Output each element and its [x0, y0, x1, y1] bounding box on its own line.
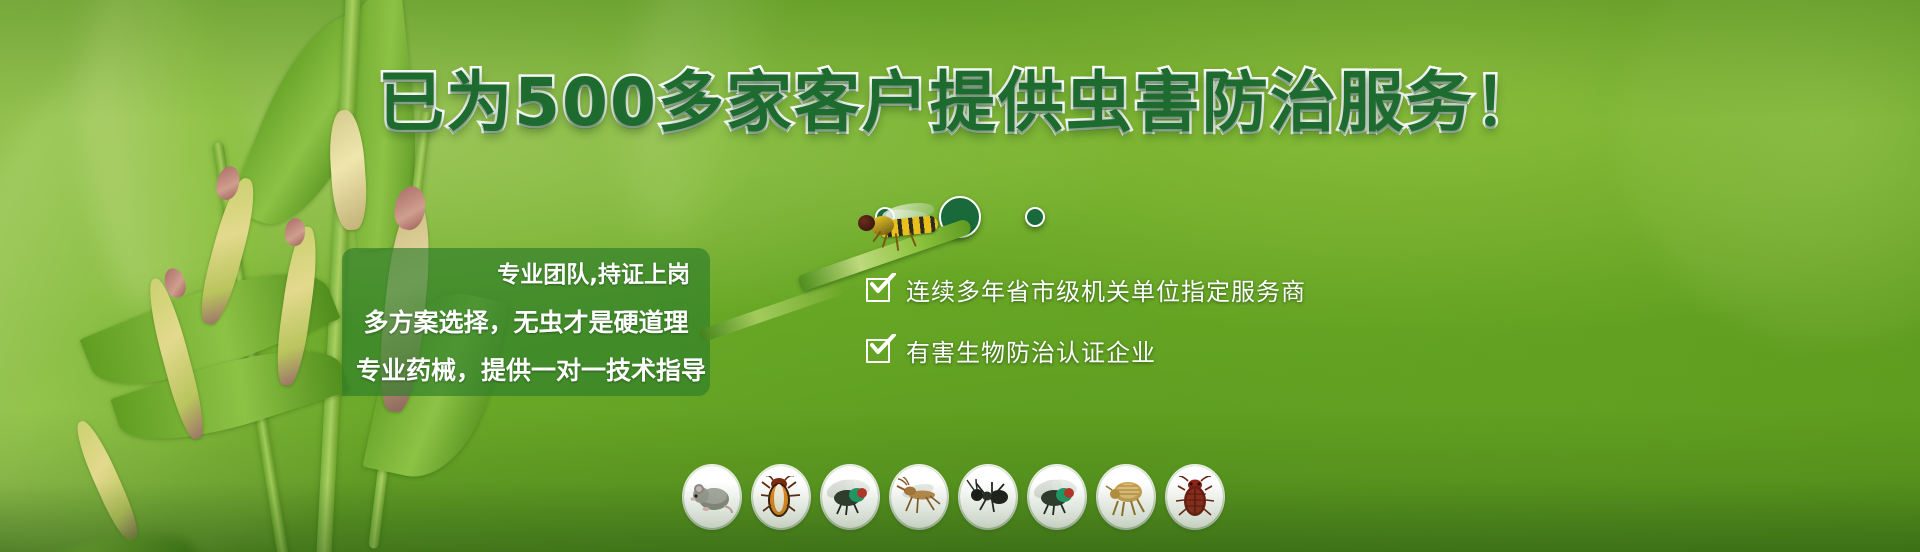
checkbox-checked-icon — [866, 276, 893, 303]
checkbox-checked-icon — [866, 337, 893, 364]
certification-text: 连续多年省市级机关单位指定服务商 — [906, 272, 1306, 307]
blowfly-icon — [1029, 466, 1085, 528]
slogan-line-1: 专业团队,持证上岗 — [356, 255, 696, 289]
certification-text: 有害生物防治认证企业 — [906, 333, 1156, 368]
mosquito-icon — [891, 466, 947, 528]
flea-icon — [1098, 466, 1154, 528]
slogan-panel: 专业团队,持证上岗 多方案选择，无虫才是硬道理 专业药械，提供一对一技术指导 — [342, 248, 710, 396]
slogan-line-3: 专业药械，提供一对一技术指导 — [356, 351, 696, 387]
list-item: 连续多年省市级机关单位指定服务商 — [866, 272, 1306, 307]
ant-icon — [960, 466, 1016, 528]
certification-list: 连续多年省市级机关单位指定服务商 有害生物防治认证企业 — [866, 272, 1306, 368]
slogan-line-2: 多方案选择，无虫才是硬道理 — [356, 303, 696, 339]
hoverfly-icon — [856, 202, 956, 248]
pest-control-banner: 已为500多家客户提供虫害防治服务！ 专业团队,持证上岗 多方案选择，无虫才是硬… — [0, 0, 1920, 552]
bedbug-icon — [1167, 466, 1223, 528]
page-title: 已为500多家客户提供虫害防治服务！ — [0, 68, 1920, 137]
cockroach-icon — [753, 466, 809, 528]
fly-icon — [822, 466, 878, 528]
foreground-blurred-plant — [0, 250, 220, 552]
mouse-icon — [684, 466, 740, 528]
pest-icon-row — [684, 466, 1223, 528]
list-item: 有害生物防治认证企业 — [866, 333, 1306, 368]
